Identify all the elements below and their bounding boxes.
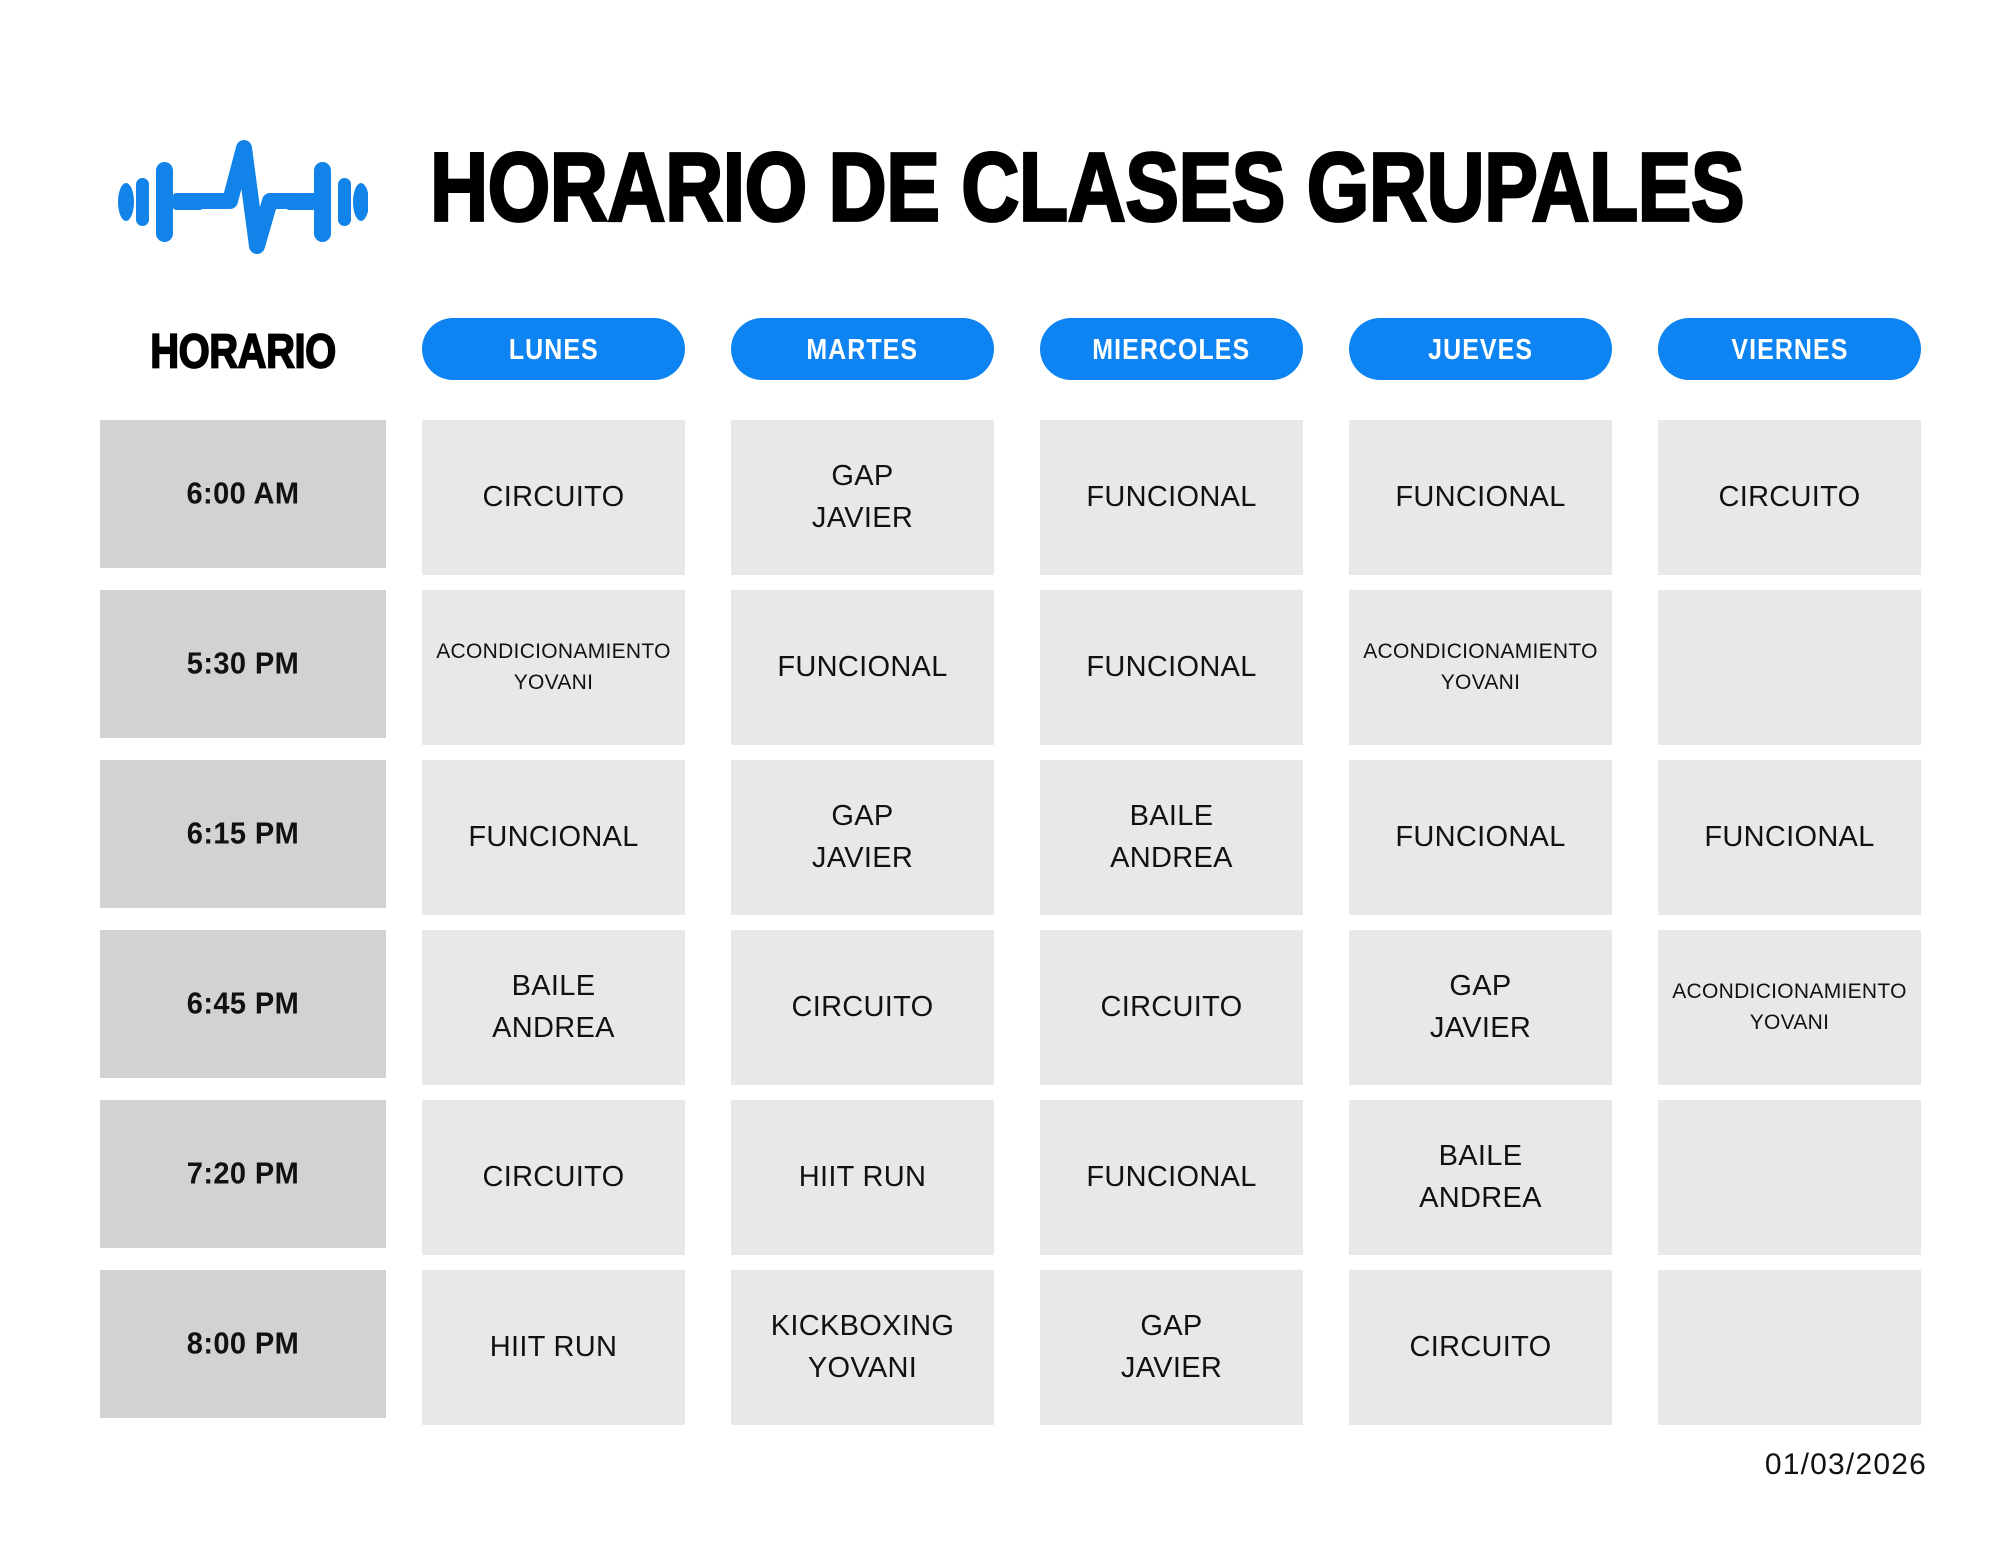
- day-header-martes-label: MARTES: [807, 332, 919, 367]
- class-cell-jueves[interactable]: GAPJAVIER: [1349, 930, 1612, 1085]
- class-cell-viernes[interactable]: CIRCUITO: [1658, 420, 1921, 575]
- class-instructor: JAVIER: [812, 498, 913, 539]
- class-instructor: YOVANI: [1441, 668, 1521, 698]
- schedule-grid: 6:00 AMCIRCUITOGAPJAVIERFUNCIONALFUNCION…: [0, 420, 1999, 1440]
- time-cell: 8:00 PM: [100, 1270, 386, 1418]
- class-name: FUNCIONAL: [777, 647, 947, 688]
- class-cell-lunes[interactable]: FUNCIONAL: [422, 760, 685, 915]
- class-name: CIRCUITO: [791, 987, 933, 1028]
- footer-date: 01/03/2026: [1765, 1448, 1927, 1482]
- class-name: GAP: [1449, 966, 1511, 1007]
- class-name: FUNCIONAL: [1704, 817, 1874, 858]
- time-cell: 5:30 PM: [100, 590, 386, 738]
- time-label: 8:00 PM: [187, 1327, 299, 1362]
- class-cell-lunes[interactable]: CIRCUITO: [422, 420, 685, 575]
- class-instructor: JAVIER: [1430, 1008, 1531, 1049]
- class-cell-viernes[interactable]: FUNCIONAL: [1658, 760, 1921, 915]
- class-name: GAP: [831, 456, 893, 497]
- class-cell-jueves[interactable]: ACONDICIONAMIENTOYOVANI: [1349, 590, 1612, 745]
- page-title: HORARIO DE CLASES GRUPALES: [430, 140, 1978, 237]
- day-header-jueves-label: JUEVES: [1428, 332, 1533, 367]
- class-instructor: JAVIER: [812, 838, 913, 879]
- class-cell-miercoles[interactable]: CIRCUITO: [1040, 930, 1303, 1085]
- class-name: ACONDICIONAMIENTO: [1363, 637, 1598, 667]
- class-cell-miercoles[interactable]: GAPJAVIER: [1040, 1270, 1303, 1425]
- class-name: FUNCIONAL: [1086, 1157, 1256, 1198]
- class-instructor: YOVANI: [1750, 1008, 1830, 1038]
- day-header-miercoles[interactable]: MIERCOLES: [1040, 318, 1303, 380]
- time-column-header: HORARIO: [100, 316, 386, 388]
- class-name: FUNCIONAL: [468, 817, 638, 858]
- time-cell: 6:00 AM: [100, 420, 386, 568]
- class-cell-martes[interactable]: CIRCUITO: [731, 930, 994, 1085]
- class-cell-viernes[interactable]: [1658, 1100, 1921, 1255]
- class-cell-miercoles[interactable]: BAILEANDREA: [1040, 760, 1303, 915]
- day-header-viernes[interactable]: VIERNES: [1658, 318, 1921, 380]
- day-header-miercoles-label: MIERCOLES: [1093, 332, 1251, 367]
- class-cell-martes[interactable]: FUNCIONAL: [731, 590, 994, 745]
- class-cell-miercoles[interactable]: FUNCIONAL: [1040, 1100, 1303, 1255]
- class-name: BAILE: [512, 966, 596, 1007]
- class-cell-jueves[interactable]: FUNCIONAL: [1349, 760, 1612, 915]
- class-instructor: ANDREA: [492, 1008, 615, 1049]
- dumbbell-pulse-icon: [118, 138, 368, 266]
- class-cell-jueves[interactable]: CIRCUITO: [1349, 1270, 1612, 1425]
- class-name: GAP: [831, 796, 893, 837]
- class-cell-viernes[interactable]: [1658, 590, 1921, 745]
- class-name: KICKBOXING: [771, 1306, 955, 1347]
- class-name: FUNCIONAL: [1086, 477, 1256, 518]
- day-header-martes[interactable]: MARTES: [731, 318, 994, 380]
- class-cell-lunes[interactable]: ACONDICIONAMIENTOYOVANI: [422, 590, 685, 745]
- class-name: HIIT RUN: [799, 1157, 927, 1198]
- class-cell-martes[interactable]: GAPJAVIER: [731, 420, 994, 575]
- time-cell: 7:20 PM: [100, 1100, 386, 1248]
- day-header-lunes[interactable]: LUNES: [422, 318, 685, 380]
- day-header-row: HORARIO LUNES MARTES MIERCOLES JUEVES VI…: [0, 318, 1999, 386]
- class-instructor: ANDREA: [1419, 1178, 1542, 1219]
- schedule-row: 6:00 AMCIRCUITOGAPJAVIERFUNCIONALFUNCION…: [0, 420, 1999, 590]
- class-name: CIRCUITO: [1718, 477, 1860, 518]
- class-name: ACONDICIONAMIENTO: [1672, 977, 1907, 1007]
- time-label: 6:00 AM: [187, 477, 300, 512]
- class-name: FUNCIONAL: [1395, 477, 1565, 518]
- class-name: FUNCIONAL: [1395, 817, 1565, 858]
- class-instructor: JAVIER: [1121, 1348, 1222, 1389]
- class-cell-miercoles[interactable]: FUNCIONAL: [1040, 590, 1303, 745]
- class-name: GAP: [1140, 1306, 1202, 1347]
- class-cell-lunes[interactable]: CIRCUITO: [422, 1100, 685, 1255]
- class-name: CIRCUITO: [482, 477, 624, 518]
- class-cell-miercoles[interactable]: FUNCIONAL: [1040, 420, 1303, 575]
- time-label: 6:45 PM: [187, 987, 299, 1022]
- time-label: 7:20 PM: [187, 1157, 299, 1192]
- time-cell: 6:15 PM: [100, 760, 386, 908]
- class-instructor: YOVANI: [514, 668, 594, 698]
- class-name: FUNCIONAL: [1086, 647, 1256, 688]
- schedule-row: 6:45 PMBAILEANDREACIRCUITOCIRCUITOGAPJAV…: [0, 930, 1999, 1100]
- class-cell-martes[interactable]: GAPJAVIER: [731, 760, 994, 915]
- class-name: HIIT RUN: [490, 1327, 618, 1368]
- class-name: BAILE: [1130, 796, 1214, 837]
- class-cell-lunes[interactable]: BAILEANDREA: [422, 930, 685, 1085]
- class-cell-viernes[interactable]: ACONDICIONAMIENTOYOVANI: [1658, 930, 1921, 1085]
- class-cell-viernes[interactable]: [1658, 1270, 1921, 1425]
- class-cell-martes[interactable]: HIIT RUN: [731, 1100, 994, 1255]
- day-header-viernes-label: VIERNES: [1731, 332, 1848, 367]
- class-name: ACONDICIONAMIENTO: [436, 637, 671, 667]
- schedule-row: 5:30 PMACONDICIONAMIENTOYOVANIFUNCIONALF…: [0, 590, 1999, 760]
- class-name: BAILE: [1439, 1136, 1523, 1177]
- class-name: CIRCUITO: [482, 1157, 624, 1198]
- class-name: CIRCUITO: [1100, 987, 1242, 1028]
- class-name: CIRCUITO: [1409, 1327, 1551, 1368]
- class-instructor: YOVANI: [808, 1348, 917, 1389]
- schedule-row: 8:00 PMHIIT RUNKICKBOXINGYOVANIGAPJAVIER…: [0, 1270, 1999, 1440]
- class-instructor: ANDREA: [1110, 838, 1233, 879]
- schedule-row: 6:15 PMFUNCIONALGAPJAVIERBAILEANDREAFUNC…: [0, 760, 1999, 930]
- time-label: 6:15 PM: [187, 817, 299, 852]
- page-header: HORARIO DE CLASES GRUPALES: [0, 0, 1999, 300]
- day-header-lunes-label: LUNES: [509, 332, 599, 367]
- time-label: 5:30 PM: [187, 647, 299, 682]
- class-cell-lunes[interactable]: HIIT RUN: [422, 1270, 685, 1425]
- time-cell: 6:45 PM: [100, 930, 386, 1078]
- schedule-row: 7:20 PMCIRCUITOHIIT RUNFUNCIONALBAILEAND…: [0, 1100, 1999, 1270]
- day-header-jueves[interactable]: JUEVES: [1349, 318, 1612, 380]
- class-cell-martes[interactable]: KICKBOXINGYOVANI: [731, 1270, 994, 1425]
- class-cell-jueves[interactable]: BAILEANDREA: [1349, 1100, 1612, 1255]
- class-cell-jueves[interactable]: FUNCIONAL: [1349, 420, 1612, 575]
